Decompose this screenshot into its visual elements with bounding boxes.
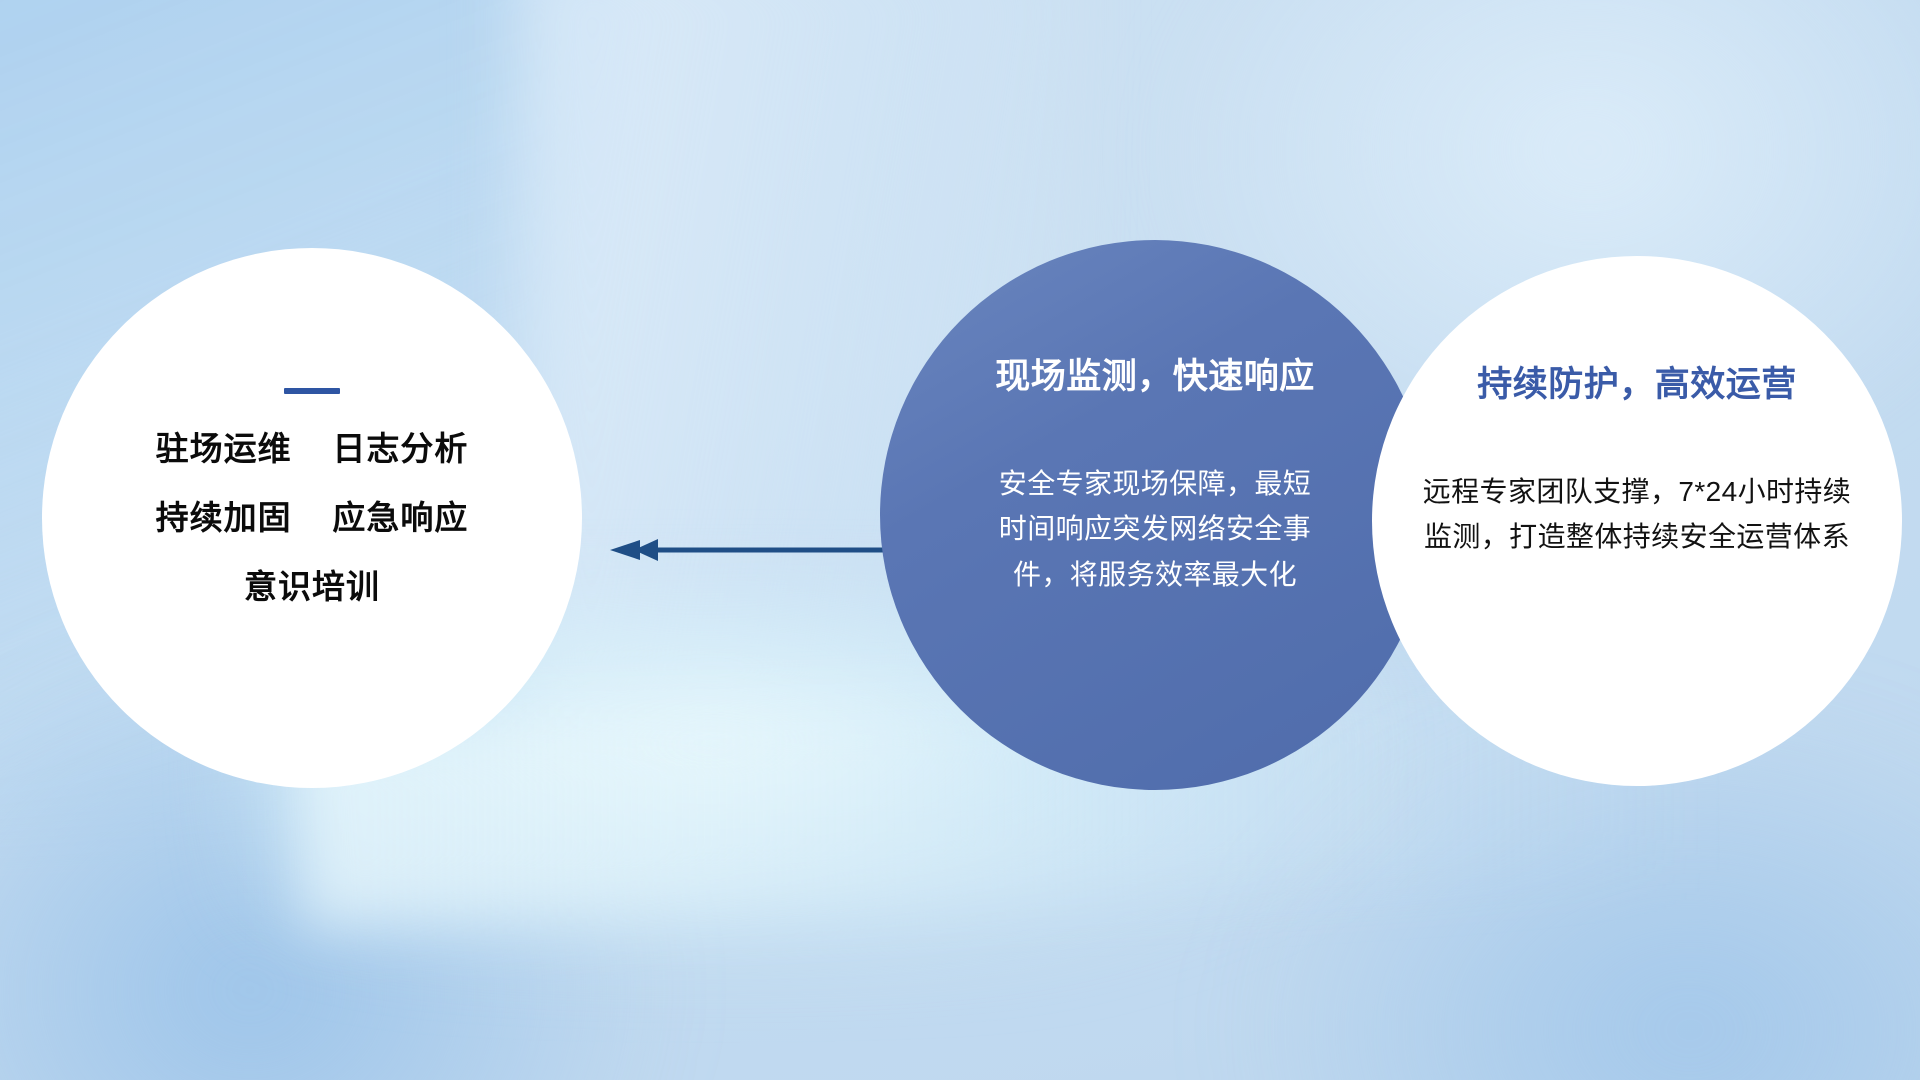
card-onsite-monitoring-body: 安全专家现场保障，最短时间响应突发网络安全事件，将服务效率最大化 [995, 461, 1315, 597]
divider-dash [284, 388, 340, 394]
capability-line-2: 持续加固 应急响应 [156, 501, 469, 534]
card-capabilities[interactable]: 驻场运维 日志分析 持续加固 应急响应 意识培训 [42, 248, 582, 788]
card-continuous-protection-body: 远程专家团队支撑，7*24小时持续监测，打造整体持续安全运营体系 [1422, 469, 1852, 560]
card-continuous-protection[interactable]: 持续防护，高效运营 远程专家团队支撑，7*24小时持续监测，打造整体持续安全运营… [1372, 256, 1902, 786]
capability-line-3: 意识培训 [244, 570, 380, 603]
card-onsite-monitoring[interactable]: 现场监测，快速响应 安全专家现场保障，最短时间响应突发网络安全事件，将服务效率最… [880, 240, 1430, 790]
slide-canvas: 驻场运维 日志分析 持续加固 应急响应 意识培训 现场监测，快速响应 安全专家现… [0, 0, 1920, 1080]
card-onsite-monitoring-title: 现场监测，快速响应 [995, 348, 1315, 399]
capability-line-1: 驻场运维 日志分析 [156, 432, 469, 465]
card-continuous-protection-title: 持续防护，高效运营 [1477, 356, 1797, 407]
